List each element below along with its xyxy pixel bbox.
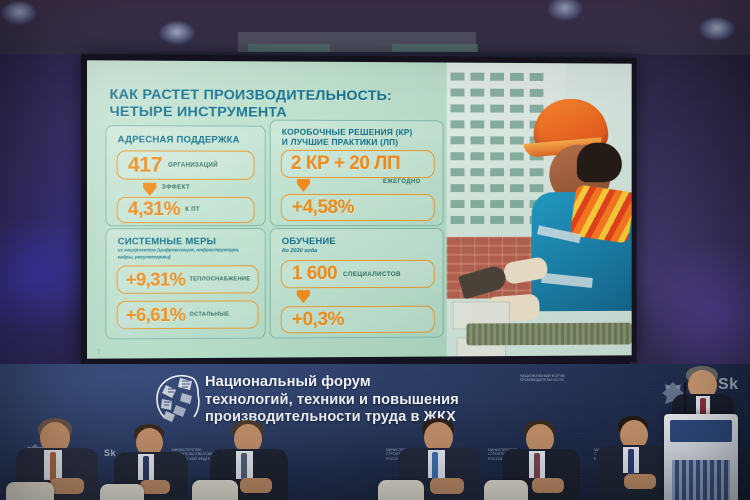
forum-circular-emblem bbox=[150, 373, 202, 425]
card-boxed-solutions: КОРОБОЧНЫЕ РЕШЕНИЯ (КР) И ЛУЧШИЕ ПРАКТИК… bbox=[270, 120, 444, 226]
conference-hall-photo: КАК РАСТЕТ ПРОИЗВОДИТЕЛЬНОСТЬ: ЧЕТЫРЕ ИН… bbox=[0, 0, 750, 500]
arrow-label: ЭФФЕКТ bbox=[161, 185, 190, 191]
metric-value: 2 КР + 20 ЛП bbox=[291, 153, 400, 175]
slide-title-line2: ЧЕТЫРЕ ИНСТРУМЕНТА bbox=[109, 103, 441, 121]
result-value: +4,58% bbox=[292, 196, 354, 218]
microphone bbox=[684, 382, 686, 416]
slide-title: КАК РАСТЕТ ПРОИЗВОДИТЕЛЬНОСТЬ: ЧЕТЫРЕ ИН… bbox=[109, 87, 441, 122]
slide-page-number: 7 bbox=[97, 350, 100, 356]
card-heading: СИСТЕМНЫЕ МЕРЫ bbox=[118, 235, 216, 246]
metric-pill: 1 600 СПЕЦИАЛИСТОВ bbox=[281, 260, 435, 288]
metric-pill: 2 КР + 20 ЛП bbox=[281, 150, 435, 178]
row2-unit: ОСТАЛЬНЫЕ bbox=[189, 312, 229, 318]
ceiling-spotlight bbox=[160, 22, 194, 44]
panelist-3 bbox=[206, 420, 310, 500]
result-value: 4,31% bbox=[128, 199, 180, 221]
metric-unit: ОРГАНИЗАЦИЙ bbox=[168, 162, 218, 168]
presentation-slide: КАК РАСТЕТ ПРОИЗВОДИТЕЛЬНОСТЬ: ЧЕТЫРЕ ИН… bbox=[87, 60, 632, 358]
ceiling-spotlight bbox=[700, 18, 734, 40]
card-heading: ОБУЧЕНИЕ bbox=[282, 235, 336, 246]
row1-value: +9,31% bbox=[126, 269, 186, 290]
card-subtitle-line1: из нацпроектов (цифровизация, инфраструк… bbox=[118, 247, 240, 252]
ceiling-spotlight bbox=[2, 2, 36, 24]
lectern-logo-plate bbox=[670, 420, 732, 442]
hall-wall-right bbox=[630, 55, 750, 385]
metric-value: 1 600 bbox=[292, 263, 337, 285]
card-subtitle-line2: кадры, регуляторика) bbox=[118, 254, 171, 259]
metric-pill-heat: +9,31% ТЕПЛОСНАБЖЕНИЕ bbox=[117, 265, 259, 294]
metric-value: 417 bbox=[128, 153, 162, 177]
metric-unit: СПЕЦИАЛИСТОВ bbox=[343, 270, 401, 277]
card-training: ОБУЧЕНИЕ до 2030 года 1 600 СПЕЦИАЛИСТОВ… bbox=[270, 228, 444, 339]
row1-unit: ТЕПЛОСНАБЖЕНИЕ bbox=[189, 276, 250, 282]
result-unit: К ПТ bbox=[185, 207, 200, 213]
result-pill: +0,3% bbox=[281, 306, 435, 334]
ceiling-spotlight bbox=[548, 0, 582, 20]
card-heading-line2: И ЛУЧШИЕ ПРАКТИКИ (ЛП) bbox=[282, 137, 399, 147]
forum-line-1: Национальный форум bbox=[205, 374, 495, 392]
panelist-5 bbox=[500, 420, 602, 500]
projection-screen: КАК РАСТЕТ ПРОИЗВОДИТЕЛЬНОСТЬ: ЧЕТЫРЕ ИН… bbox=[81, 54, 637, 366]
lectern-legs bbox=[672, 460, 730, 500]
result-pill: 4,31% К ПТ bbox=[117, 197, 255, 223]
result-pill: +4,58% bbox=[281, 194, 435, 221]
coat-of-arms-eagle-icon bbox=[112, 312, 138, 342]
card-heading-line1: КОРОБОЧНЫЕ РЕШЕНИЯ (КР) bbox=[282, 127, 413, 137]
slide-photo-construction-worker bbox=[447, 63, 632, 358]
metric-unit: ЕЖЕГОДНО bbox=[383, 179, 421, 185]
slide-title-line1: КАК РАСТЕТ ПРОИЗВОДИТЕЛЬНОСТЬ: bbox=[109, 87, 441, 105]
card-subtitle: до 2030 года bbox=[282, 248, 317, 254]
metric-pill: 417 ОРГАНИЗАЦИЙ bbox=[117, 150, 255, 179]
forum-line-2: технологий, техники и повышения bbox=[205, 392, 495, 410]
result-value: +0,3% bbox=[292, 309, 344, 331]
partner-logo-box: НАЦИОНАЛЬНЫЙ ФОРУМПРОИЗВОДИТЕЛЬНОСТИ bbox=[520, 374, 578, 383]
card-heading: АДРЕСНАЯ ПОДДЕРЖКА bbox=[118, 133, 240, 144]
card-address-support: АДРЕСНАЯ ПОДДЕРЖКА 417 ОРГАНИЗАЦИЙ ЭФФЕК… bbox=[105, 125, 265, 226]
